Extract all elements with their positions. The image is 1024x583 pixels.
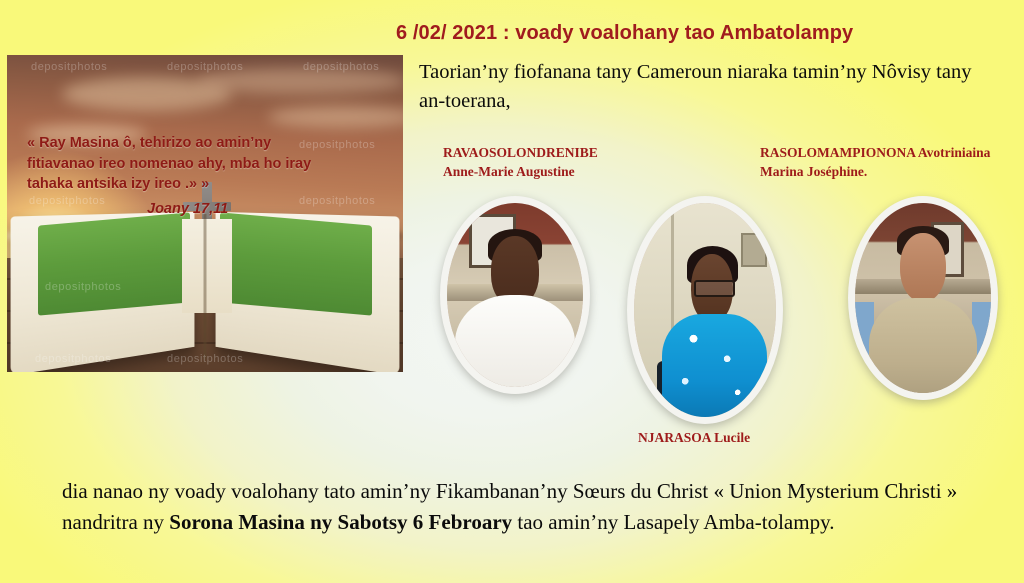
eyeglasses-shape — [694, 280, 735, 297]
white-shirt — [455, 295, 575, 394]
person-given-name: Anne-Marie Augustine — [443, 162, 693, 181]
portrait-photo-3 — [848, 196, 998, 400]
wall-frame — [741, 233, 768, 267]
bottom-text-part2: tao amin’ny Lasapely Amba-tolampy. — [512, 510, 834, 534]
grass-field-left — [38, 213, 190, 317]
blue-patterned-shirt — [662, 314, 767, 424]
bible-verse-text: « Ray Masina ô, tehirizo ao amin’ny fiti… — [27, 133, 327, 195]
slide-canvas: 6 /02/ 2021 : voady voalohany tao Ambato… — [0, 0, 1024, 583]
path-between-grass — [182, 219, 231, 312]
person-given-name: Marina Joséphine. — [760, 162, 1022, 181]
person-name-3: RASOLOMAMPIONONA Avotriniaina Marina Jos… — [760, 143, 1022, 181]
portrait-photo-2 — [627, 196, 783, 424]
bible-image: depositphotos depositphotos depositphoto… — [7, 55, 403, 372]
photo-content — [447, 203, 583, 387]
intro-paragraph: Taorian’ny fiofanana tany Cameroun niara… — [419, 58, 994, 116]
portrait-photo-1 — [440, 196, 590, 394]
cloud-shape — [268, 106, 403, 128]
photo-content — [634, 203, 776, 417]
person-surname: RAVAOSOLONDRENIBE — [443, 143, 693, 162]
photo-content — [855, 203, 991, 393]
book-spine — [204, 214, 207, 360]
grass-field-right — [220, 213, 372, 317]
cloud-shape — [197, 68, 403, 94]
page-title: 6 /02/ 2021 : voady voalohany tao Ambato… — [396, 22, 853, 45]
bottom-text-bold: Sorona Masina ny Sabotsy 6 Febroary — [169, 510, 512, 534]
person-surname: RASOLOMAMPIONONA Avotriniaina — [760, 143, 1022, 162]
khaki-polo-shirt — [869, 298, 978, 400]
person-caption-2: NJARASOA Lucile — [638, 428, 858, 447]
open-book — [15, 214, 395, 360]
bible-verse-reference: Joany 17,11 — [147, 201, 228, 217]
person-name-1: RAVAOSOLONDRENIBE Anne-Marie Augustine — [443, 143, 693, 181]
bottom-paragraph: dia nanao ny voady voalohany tato amin’n… — [62, 476, 992, 538]
face-shape — [900, 233, 946, 301]
